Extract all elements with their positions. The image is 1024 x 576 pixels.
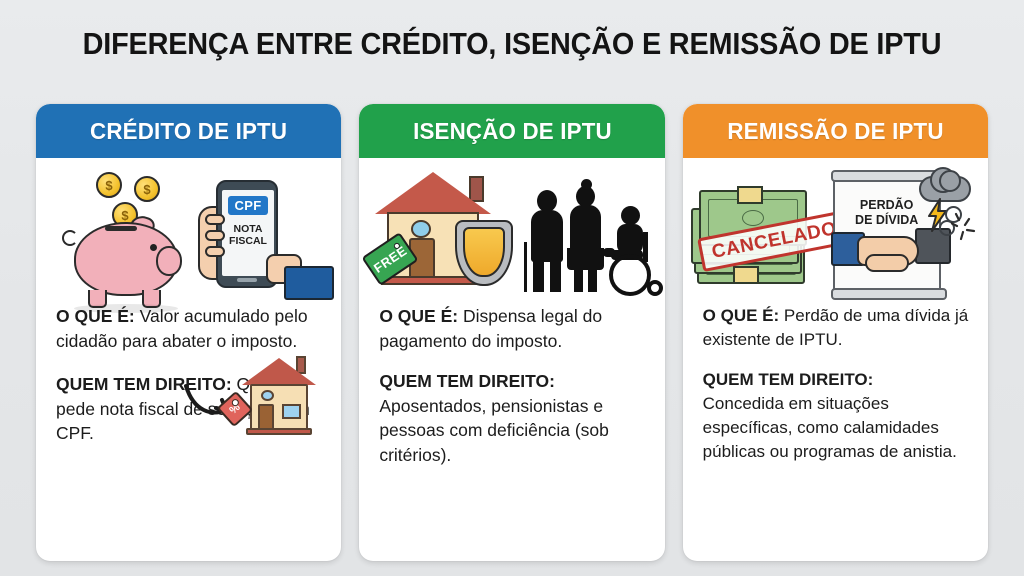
person-torso bbox=[531, 210, 563, 262]
infographic-root: DIFERENÇA ENTRE CRÉDITO, ISENÇÃO E REMIS… bbox=[0, 0, 1024, 576]
cpf-badge: CPF bbox=[228, 196, 269, 215]
card-remissao[interactable]: REMISSÃO DE IPTU CANCELADO bbox=[683, 104, 988, 561]
label-o-que-e: O QUE É: bbox=[56, 306, 135, 326]
person-leg bbox=[550, 258, 561, 292]
finger bbox=[205, 230, 225, 241]
person-leg bbox=[574, 268, 583, 292]
house-roof bbox=[375, 172, 491, 214]
card-remissao-what-is: O QUE É: Perdão de uma dívida já existen… bbox=[703, 304, 970, 352]
piggy-bank-slot bbox=[105, 226, 137, 231]
card-credito-what-is: O QUE É: Valor acumulado pelo cidadão pa… bbox=[56, 304, 323, 353]
piggy-bank-snout bbox=[156, 246, 182, 276]
shield-inner bbox=[463, 227, 505, 277]
card-isencao-who: QUEM TEM DIREITO:Aposentados, pensionist… bbox=[379, 369, 646, 467]
card-isencao[interactable]: ISENÇÃO DE IPTU FREE bbox=[359, 104, 664, 561]
label-o-que-e: O QUE É: bbox=[703, 306, 780, 325]
walking-cane-icon bbox=[524, 242, 527, 292]
person-skirt bbox=[567, 248, 604, 270]
chain-break-sparks-icon bbox=[951, 212, 981, 242]
money-band bbox=[733, 266, 759, 284]
page-title: DIFERENÇA ENTRE CRÉDITO, ISENÇÃO E REMIS… bbox=[36, 26, 988, 62]
card-isencao-what-is: O QUE É: Dispensa legal do pagamento do … bbox=[379, 304, 646, 353]
text-quem-tem-direito: Aposentados, pensionistas e pessoas com … bbox=[379, 396, 609, 465]
phone-home-button bbox=[237, 278, 257, 282]
card-credito[interactable]: CRÉDITO DE IPTU bbox=[36, 104, 341, 561]
handshake-fingers bbox=[865, 254, 909, 272]
card-isencao-header: ISENÇÃO DE IPTU bbox=[359, 104, 664, 158]
house-base bbox=[246, 428, 312, 435]
card-remissao-illustration: CANCELADO PERDÃO DE DÍVIDA bbox=[683, 158, 988, 298]
card-remissao-header: REMISSÃO DE IPTU bbox=[683, 104, 988, 158]
person-foot bbox=[603, 248, 615, 257]
shield-icon bbox=[455, 220, 513, 286]
card-remissao-who: QUEM TEM DIREITO:Concedida em situações … bbox=[703, 368, 970, 464]
label-o-que-e: O QUE É: bbox=[379, 306, 458, 326]
piggy-bank-eye bbox=[150, 244, 157, 251]
person-leg bbox=[533, 258, 544, 292]
coin-icon bbox=[96, 172, 122, 198]
shirt-sleeve bbox=[284, 266, 334, 300]
card-remissao-header-label: REMISSÃO DE IPTU bbox=[727, 118, 943, 145]
house-door bbox=[258, 404, 274, 430]
money-band bbox=[737, 186, 763, 204]
card-remissao-body: O QUE É: Perdão de uma dívida já existen… bbox=[683, 298, 988, 561]
person-head bbox=[537, 190, 557, 212]
scroll-text: PERDÃO DE DÍVIDA bbox=[835, 198, 939, 228]
house-window bbox=[282, 404, 301, 419]
wheelchair-small-wheel bbox=[647, 280, 663, 296]
nota-fiscal-label: NOTA FISCAL bbox=[229, 223, 267, 247]
text-quem-tem-direito: Concedida em situações específicas, como… bbox=[703, 394, 957, 461]
house-roof bbox=[242, 358, 316, 385]
card-credito-header-label: CRÉDITO DE IPTU bbox=[90, 118, 287, 145]
person-leg bbox=[588, 268, 597, 292]
card-isencao-body: O QUE É: Dispensa legal do pagamento do … bbox=[359, 298, 664, 561]
finger bbox=[205, 246, 225, 257]
wheelchair-backrest bbox=[643, 232, 648, 262]
label-quem-tem-direito: QUEM TEM DIREITO: bbox=[703, 370, 874, 389]
finger bbox=[205, 214, 225, 225]
cards-container: CRÉDITO DE IPTU bbox=[36, 104, 988, 561]
card-isencao-header-label: ISENÇÃO DE IPTU bbox=[413, 118, 612, 145]
house-round-window bbox=[261, 390, 274, 401]
card-isencao-illustration: FREE bbox=[359, 158, 664, 298]
person-head bbox=[621, 206, 640, 225]
piggy-bank-tail bbox=[62, 230, 78, 246]
card-credito-header: CRÉDITO DE IPTU bbox=[36, 104, 341, 158]
card-credito-illustration: CPF NOTA FISCAL bbox=[36, 158, 341, 298]
coin-icon bbox=[134, 176, 160, 202]
label-quem-tem-direito: QUEM TEM DIREITO: bbox=[379, 371, 555, 391]
card-credito-body: O QUE É: Valor acumulado pelo cidadão pa… bbox=[36, 298, 341, 561]
